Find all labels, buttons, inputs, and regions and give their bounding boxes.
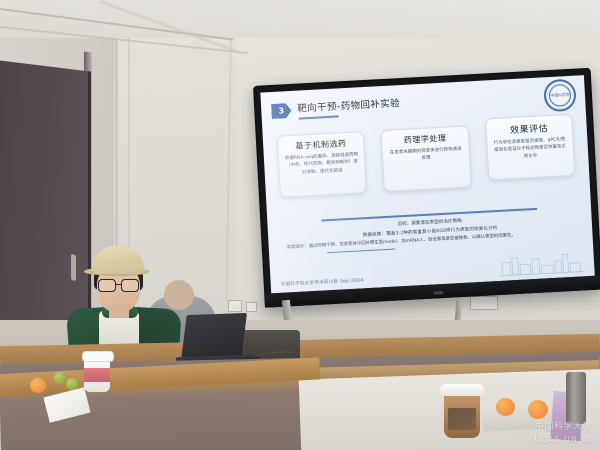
paper-coffee-cup-brown [444, 392, 480, 438]
laptop-screen[interactable] [181, 313, 247, 361]
wall-mounted-television: 3 靶向干预-药物回补实验 中国科学院 基于机制选药 依据RNA-seq的差异、… [253, 68, 600, 308]
tv-screen: 3 靶向干预-药物回补实验 中国科学院 基于机制选药 依据RNA-seq的差异、… [260, 75, 594, 293]
watermark-primary: 中国科学大学 [535, 419, 592, 432]
orange-fruit [528, 400, 548, 419]
seal-ring: 中国科学院 [548, 84, 571, 107]
step-number: 3 [278, 107, 284, 115]
watermark-secondary: UCAS.UN VE [535, 435, 594, 444]
lens-left [98, 279, 116, 292]
cup-lid [82, 351, 114, 362]
cup-print [448, 408, 476, 430]
orange-fruit [30, 378, 46, 393]
card-body: 行为学检测表型是否挽救、qPCR/免疫组化验证分子标志物是否恢复至正常水平 [492, 136, 568, 162]
card-title: 药理学处理 [387, 132, 463, 147]
title-underline [299, 115, 339, 119]
card-body: 依据RNA-seq的差异、选择候选药物（中药、现代药物、靶向抑制剂）进行关联、现… [284, 151, 360, 177]
classroom-photo: 3 靶向干预-药物回补实验 中国科学院 基于机制选药 依据RNA-seq的差异、… [0, 0, 600, 450]
cup-band [84, 368, 110, 382]
cup-lid [440, 384, 484, 396]
thermos-bottle [566, 372, 586, 424]
card-title: 基于机制选药 [283, 137, 359, 152]
green-fruit [54, 372, 66, 384]
wall-panel-box [470, 296, 498, 310]
slide-card: 药理学处理 在发育关键期对突变体进行药物递送处理 [381, 125, 472, 192]
slide-footer: 中国科学院大学学术研讨会 Sep 2024 [281, 277, 364, 287]
step-chevron-icon: 3 [271, 103, 292, 119]
slide-card-row: 基于机制选药 依据RNA-seq的差异、选择候选药物（中药、现代药物、靶向抑制剂… [277, 120, 577, 212]
slide-card: 基于机制选药 依据RNA-seq的差异、选择候选药物（中药、现代药物、靶向抑制剂… [277, 131, 368, 198]
presentation-slide: 3 靶向干预-药物回补实验 中国科学院 基于机制选药 依据RNA-seq的差异、… [260, 75, 594, 293]
eyeglasses-icon [97, 279, 140, 290]
seal-text: 中国科学院 [550, 93, 569, 98]
slide-title: 靶向干预-药物回补实验 [297, 95, 400, 115]
card-body: 在发育关键期对突变体进行药物递送处理 [388, 146, 464, 165]
cap [92, 246, 144, 274]
wall-socket [246, 302, 257, 312]
paper-coffee-cup-red [84, 356, 110, 392]
wall-socket [228, 300, 242, 312]
lens-right [121, 279, 139, 292]
glasses-bridge [115, 284, 122, 285]
tv-power-led-icon [433, 291, 443, 295]
card-title: 效果评估 [491, 120, 567, 137]
slide-card: 效果评估 行为学检测表型是否挽救、qPCR/免疫组化验证分子标志物是否恢复至正常… [485, 114, 576, 181]
slide-footnotes: 目标：探索潜在表型的治疗策略 数据采集：覆盖3-2种药类重复小鼠ASD样行为表型… [282, 212, 579, 254]
orange-fruit [496, 398, 515, 416]
city-skyline-graphic [497, 250, 584, 277]
